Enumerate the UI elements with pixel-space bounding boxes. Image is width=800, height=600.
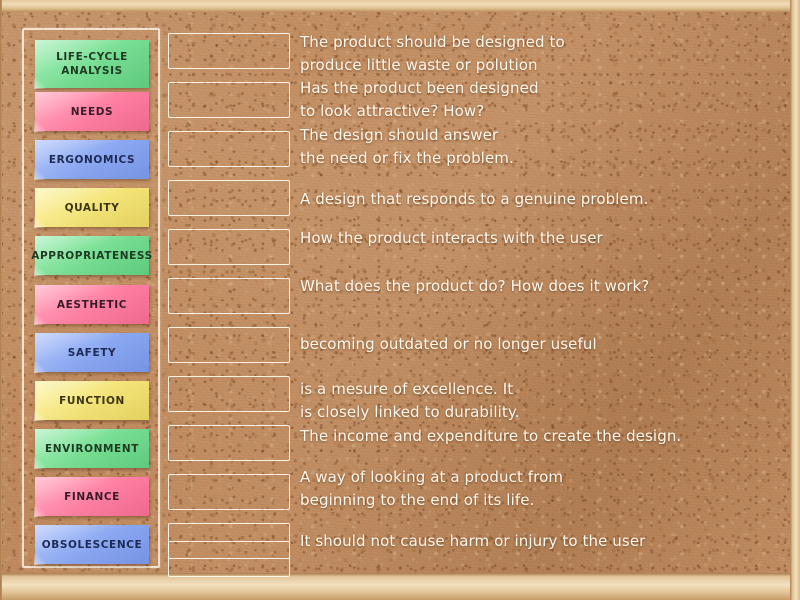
label-note-aesthetic[interactable]: AESTHETIC — [35, 285, 149, 324]
draggable-label-panel: LIFE-CYCLE ANALYSISNEEDSERGONOMICSQUALIT… — [22, 28, 160, 568]
label-note-text: ENVIRONMENT — [45, 442, 139, 456]
label-note-text: APPROPRIATENESS — [31, 249, 152, 263]
wooden-frame-right — [790, 0, 800, 600]
definition-text-6: What does the product do? How does it wo… — [300, 275, 780, 298]
definition-text-2: Has the product been designed to look at… — [300, 77, 780, 122]
match-up-board: LIFE-CYCLE ANALYSISNEEDSERGONOMICSQUALIT… — [0, 0, 800, 600]
label-note-text: QUALITY — [65, 201, 120, 215]
definition-text-3: The design should answer the need or fix… — [300, 124, 780, 169]
definition-text-4: A design that responds to a genuine prob… — [300, 188, 780, 211]
wooden-frame-top — [0, 0, 800, 12]
dropzone-6[interactable] — [168, 278, 290, 314]
label-note-ergonomics[interactable]: ERGONOMICS — [35, 140, 149, 179]
dropzone-12[interactable] — [168, 541, 290, 577]
label-note-quality[interactable]: QUALITY — [35, 188, 149, 227]
definition-text-7: becoming outdated or no longer useful — [300, 333, 780, 356]
label-note-text: SAFETY — [68, 346, 116, 360]
dropzone-5[interactable] — [168, 229, 290, 265]
label-note-text: FINANCE — [64, 490, 120, 504]
label-note-function[interactable]: FUNCTION — [35, 381, 149, 420]
definition-text-1: The product should be designed to produc… — [300, 31, 780, 76]
label-note-text: AESTHETIC — [57, 298, 127, 312]
label-note-environment[interactable]: ENVIRONMENT — [35, 429, 149, 468]
wooden-frame-bottom — [0, 573, 800, 600]
label-note-text: FUNCTION — [59, 394, 125, 408]
label-note-text: NEEDS — [71, 105, 113, 119]
label-note-text: OBSOLESCENCE — [42, 538, 143, 552]
dropzone-8[interactable] — [168, 376, 290, 412]
dropzone-10[interactable] — [168, 474, 290, 510]
label-note-safety[interactable]: SAFETY — [35, 333, 149, 372]
wooden-frame-left — [0, 0, 2, 600]
dropzone-2[interactable] — [168, 82, 290, 118]
label-note-needs[interactable]: NEEDS — [35, 92, 149, 131]
label-note-finance[interactable]: FINANCE — [35, 477, 149, 516]
label-note-appropriateness[interactable]: APPROPRIATENESS — [35, 236, 149, 275]
definition-text-10: A way of looking at a product from begin… — [300, 466, 780, 511]
label-note-text: ERGONOMICS — [49, 153, 135, 167]
label-note-text: LIFE-CYCLE ANALYSIS — [56, 50, 128, 78]
definition-text-9: The income and expenditure to create the… — [300, 425, 780, 448]
dropzone-1[interactable] — [168, 33, 290, 69]
label-note-life-cycle-analysis[interactable]: LIFE-CYCLE ANALYSIS — [35, 40, 149, 88]
dropzone-4[interactable] — [168, 180, 290, 216]
label-note-obsolescence[interactable]: OBSOLESCENCE — [35, 525, 149, 564]
dropzone-9[interactable] — [168, 425, 290, 461]
definition-text-5: How the product interacts with the user — [300, 227, 780, 250]
dropzone-3[interactable] — [168, 131, 290, 167]
dropzone-7[interactable] — [168, 327, 290, 363]
definition-text-8: is a mesure of excellence. It is closely… — [300, 378, 780, 423]
definition-text-11: It should not cause harm or injury to th… — [300, 530, 780, 553]
